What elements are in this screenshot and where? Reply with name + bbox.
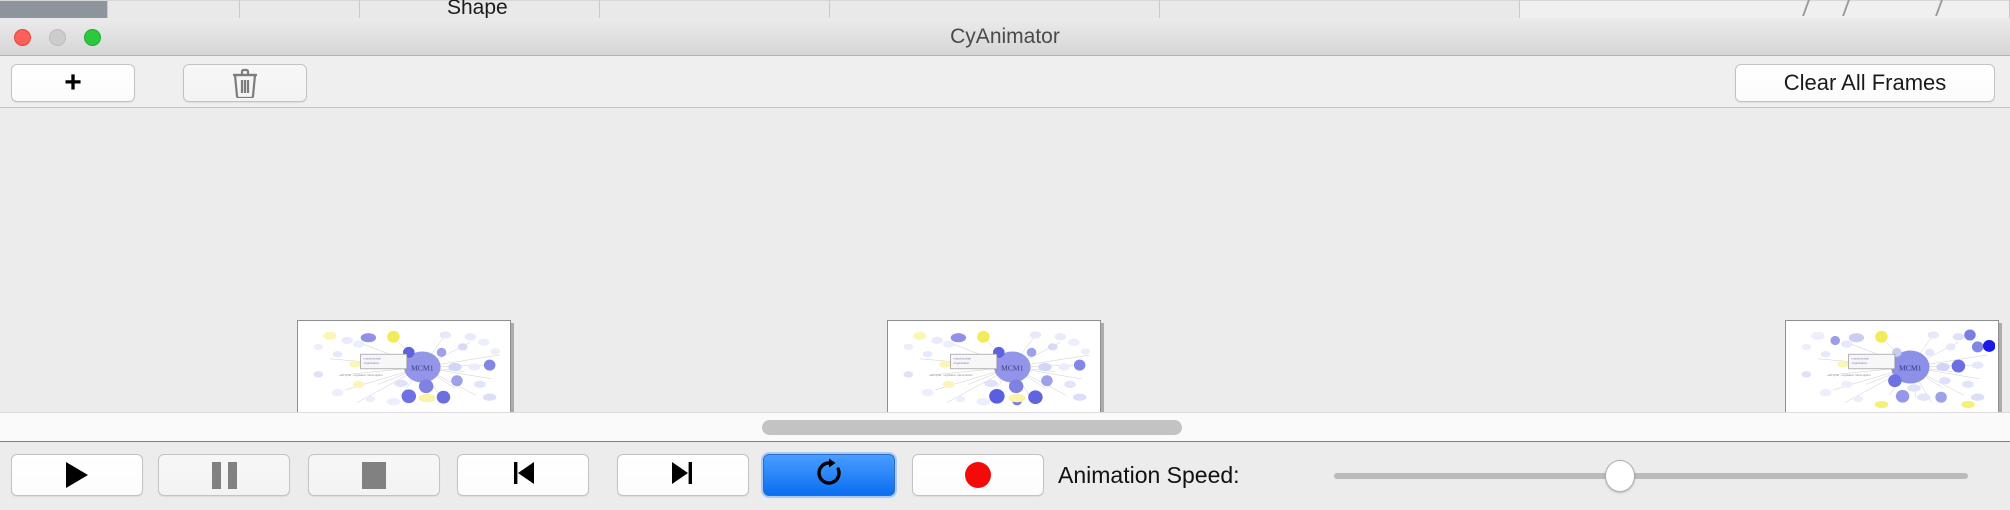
svg-text:organization: organization [1852, 361, 1868, 365]
skip-back-icon [509, 459, 537, 492]
network-thumbnail-graphic: MCM1 [1789, 324, 1995, 410]
svg-text:organization: organization [954, 361, 970, 365]
play-button[interactable] [11, 454, 143, 496]
animation-speed-label: Animation Speed: [1058, 454, 1240, 496]
animation-speed-slider[interactable] [1334, 473, 1968, 479]
bg-fragment [240, 0, 360, 18]
slider-thumb[interactable] [1605, 460, 1635, 492]
playback-bar: Animation Speed: [0, 443, 2010, 510]
frame-thumbnail: MCM1 [301, 324, 507, 410]
timeline-frame[interactable]: MCM1 [1785, 320, 1999, 414]
frame-toolbar: + Clear All Frames [0, 56, 2010, 108]
skip-forward-icon [669, 459, 697, 492]
record-button[interactable] [912, 454, 1044, 496]
pause-icon [212, 462, 237, 489]
svg-text:MCM1: MCM1 [411, 364, 434, 373]
cyanimator-window: Shape CyAnimator + Clear All Frames [0, 0, 2010, 510]
svg-text:cell cycle · regulation transc: cell cycle · regulation transcription [930, 373, 974, 377]
clear-all-frames-button[interactable]: Clear All Frames [1735, 64, 1995, 102]
stop-button[interactable] [308, 454, 440, 496]
loop-icon [814, 458, 844, 493]
svg-text:cell cycle · regulation transc: cell cycle · regulation transcription [1828, 373, 1872, 377]
svg-text:mitochondrial: mitochondrial [1852, 357, 1869, 361]
frame-track[interactable]: MCM1 [0, 108, 2010, 305]
background-window-strip: Shape [0, 0, 2010, 18]
slider-rail [1334, 473, 1968, 479]
skip-to-end-button[interactable] [617, 454, 749, 496]
stop-icon [362, 462, 386, 489]
clear-all-frames-label: Clear All Frames [1784, 70, 1947, 96]
svg-text:mitochondrial: mitochondrial [364, 357, 381, 361]
scrollbar-thumb[interactable] [762, 420, 1182, 435]
bg-fragment [600, 0, 830, 18]
play-icon [66, 462, 88, 488]
network-thumbnail-graphic: MCM1 [301, 324, 507, 410]
plus-icon: + [64, 68, 82, 98]
window-title: CyAnimator [0, 18, 2010, 56]
timeline-panel[interactable]: MCM1 [0, 108, 2010, 412]
trash-icon [232, 68, 258, 98]
record-icon [965, 462, 991, 488]
svg-text:cell cycle · regulation transc: cell cycle · regulation transcription [340, 373, 384, 377]
add-frame-button[interactable]: + [11, 64, 135, 102]
bg-fragment [0, 0, 108, 18]
title-bar: CyAnimator [0, 18, 2010, 56]
svg-text:MCM1: MCM1 [1899, 364, 1922, 373]
timeline-scrollbar[interactable] [0, 412, 2010, 442]
frame-thumbnail: MCM1 [1789, 324, 1995, 410]
bg-fragment [1160, 0, 1520, 18]
loop-button[interactable] [763, 454, 895, 496]
svg-text:MCM1: MCM1 [1001, 364, 1024, 373]
background-shape-label: Shape [447, 0, 508, 18]
bg-fragment [108, 0, 240, 18]
frame-thumbnail: MCM1 [891, 324, 1097, 410]
timeline-frame[interactable]: MCM1 [297, 320, 511, 414]
pause-button[interactable] [158, 454, 290, 496]
skip-to-start-button[interactable] [457, 454, 589, 496]
network-thumbnail-graphic: MCM1 [891, 324, 1097, 410]
svg-text:mitochondrial: mitochondrial [954, 357, 971, 361]
bg-fragment [830, 0, 1160, 18]
timeline-frame[interactable]: MCM1 [887, 320, 1101, 414]
delete-frame-button[interactable] [183, 64, 307, 102]
svg-text:organization: organization [364, 361, 380, 365]
